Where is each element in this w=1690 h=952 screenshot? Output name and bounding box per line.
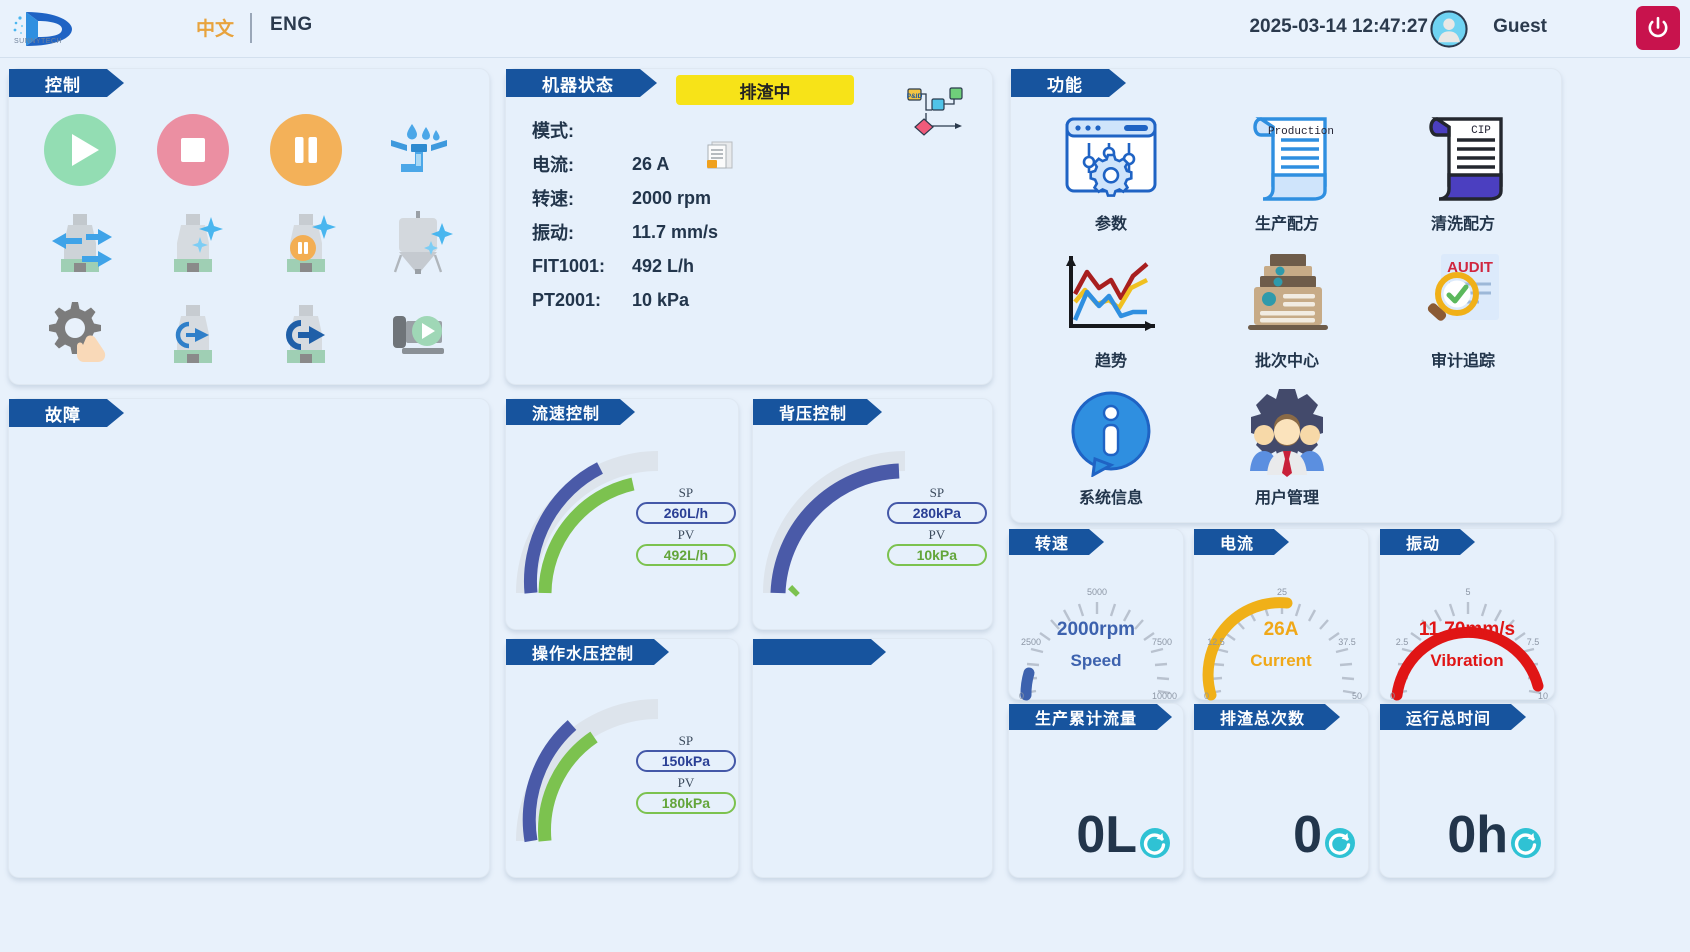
status-row-label: 模式:	[532, 117, 632, 143]
cip-clean-button[interactable]	[136, 196, 249, 287]
function-batch-center[interactable]: 批次中心	[1199, 242, 1375, 379]
water-spray-icon	[383, 114, 455, 186]
logo-wordmark: SUNNYTECH	[14, 38, 62, 45]
fault-panel-title: 故障	[9, 399, 107, 427]
status-row: 电流: 26 A	[532, 147, 718, 181]
pause-button[interactable]	[249, 105, 362, 196]
function-label: 生产配方	[1255, 210, 1319, 234]
status-row-value: 11.7 mm/s	[632, 222, 718, 243]
gauge-tick-label: 5000	[1087, 587, 1107, 597]
function-panel-title: 功能	[1011, 69, 1109, 97]
status-row: 振动: 11.7 mm/s	[532, 215, 718, 249]
function-parameters[interactable]: 参数	[1023, 105, 1199, 242]
speed-gauge-title: 转速	[1009, 529, 1089, 555]
control-button-grid	[23, 105, 475, 377]
speed-gauge-unit: Speed	[1009, 651, 1183, 671]
flow-control-arc: SP 260L/h PV 492L/h	[506, 433, 738, 608]
pv-value: 10kPa	[887, 544, 987, 566]
drain-button[interactable]	[249, 286, 362, 377]
status-row-label: FIT1001:	[532, 256, 632, 277]
sp-caption: SP	[887, 485, 987, 501]
separator-sparkle-icon	[155, 203, 231, 279]
machine-status-panel: 机器状态 排渣中 P&ID 模式: 电流: 26 A 转速: 2000 rpm …	[505, 68, 993, 385]
function-cip-recipe[interactable]: CIP 清洗配方	[1375, 105, 1551, 242]
speed-gauge-body: 2500 5000 7500 0 10000 2000rpm Speed	[1009, 553, 1183, 701]
gauge-max-label: 10000	[1152, 691, 1177, 701]
status-row-value: 492 L/h	[632, 256, 694, 277]
status-row-label: PT2001:	[532, 290, 632, 311]
waterpressure-control-panel: 操作水压控制 SP 150kPa PV 180kPa	[505, 638, 739, 878]
blank-control-panel	[752, 638, 993, 878]
function-user-management[interactable]: 用户管理	[1199, 378, 1375, 515]
waterpressure-control-arc: SP 150kPa PV 180kPa	[506, 681, 738, 856]
function-production-recipe[interactable]: Production 生产配方	[1199, 105, 1375, 242]
status-row: 模式:	[532, 113, 718, 147]
current-gauge-panel: 电流 12.5 25 37.5 0 50 26A Current	[1193, 528, 1369, 700]
gauge-tick-label: 5	[1465, 587, 1470, 597]
sp-caption: SP	[636, 485, 736, 501]
current-gauge-body: 12.5 25 37.5 0 50 26A Current	[1194, 553, 1368, 701]
water-flush-button[interactable]	[362, 105, 475, 196]
function-trend[interactable]: 趋势	[1023, 242, 1199, 379]
recipe-badge: Production	[1268, 126, 1334, 138]
counter-title: 排渣总次数	[1194, 704, 1325, 730]
company-logo	[8, 6, 128, 52]
power-button[interactable]	[1636, 6, 1680, 50]
lang-chinese[interactable]: 中文	[196, 14, 234, 41]
discharge-button[interactable]	[136, 286, 249, 377]
user-management-icon	[1237, 386, 1337, 478]
cip-recipe-icon: CIP	[1415, 112, 1511, 204]
pause-circle-icon	[269, 113, 343, 187]
svg-text:P&ID: P&ID	[907, 93, 923, 100]
status-row-label: 转速:	[532, 185, 632, 211]
stop-circle-icon	[156, 113, 230, 187]
waterpressure-control-title: 操作水压控制	[506, 639, 654, 665]
status-badge: 排渣中	[676, 75, 854, 105]
separator-discharge-icon	[155, 294, 231, 370]
status-row: 转速: 2000 rpm	[532, 181, 718, 215]
backpressure-control-arc: SP 280kPa PV 10kPa	[753, 433, 992, 608]
lang-english[interactable]: ENG	[270, 14, 313, 36]
backpressure-setpoint-readout: SP 280kPa PV 10kPa	[887, 485, 987, 569]
gear-hand-icon	[42, 294, 118, 370]
reset-icon[interactable]	[1324, 827, 1356, 859]
stop-button[interactable]	[136, 105, 249, 196]
counter-run-hours: 运行总时间 0h	[1379, 703, 1555, 878]
status-row-label: 振动:	[532, 219, 632, 245]
function-label: 清洗配方	[1431, 210, 1495, 234]
system-info-icon	[1065, 386, 1157, 478]
status-row-value: 10 kPa	[632, 290, 689, 311]
audit-trail-icon: AUDIT	[1413, 249, 1513, 341]
machine-status-title: 机器状态	[506, 69, 640, 97]
tank-clean-button[interactable]	[362, 196, 475, 287]
vibration-gauge-unit: Vibration	[1380, 651, 1554, 671]
control-panel: 控制	[8, 68, 490, 385]
function-label: 审计追踪	[1431, 347, 1495, 371]
sp-value[interactable]: 280kPa	[887, 502, 987, 524]
gauge-min-label: 0	[1204, 691, 1209, 701]
sp-value[interactable]: 260L/h	[636, 502, 736, 524]
function-system-info[interactable]: 系统信息	[1023, 378, 1199, 515]
pv-caption: PV	[636, 775, 736, 791]
batch-center-icon	[1238, 249, 1336, 341]
counter-title: 生产累计流量	[1009, 704, 1157, 730]
username-label: Guest	[1493, 16, 1547, 38]
separator-arrows-icon	[42, 203, 118, 279]
sp-caption: SP	[636, 733, 736, 749]
gauge-tick-label: 25	[1277, 587, 1287, 597]
power-icon	[1645, 15, 1671, 41]
fault-panel: 故障	[8, 398, 490, 878]
backpressure-control-title: 背压控制	[753, 399, 867, 425]
tank-sparkle-icon	[381, 203, 457, 279]
pv-caption: PV	[887, 527, 987, 543]
flow-control-title: 流速控制	[506, 399, 620, 425]
reset-icon[interactable]	[1139, 827, 1171, 859]
motor-run-button[interactable]	[362, 286, 475, 377]
production-recipe-icon: Production	[1239, 112, 1335, 204]
parameters-icon	[1061, 112, 1161, 204]
status-row: PT2001: 10 kPa	[532, 283, 718, 317]
document-icon[interactable]	[706, 141, 734, 171]
counter-value: 0L	[1076, 809, 1137, 861]
control-panel-title: 控制	[9, 69, 107, 97]
lang-divider	[250, 13, 252, 43]
current-gauge-value: 26A	[1194, 619, 1368, 641]
gauge-min-label: 0	[1390, 691, 1395, 701]
current-gauge-unit: Current	[1194, 651, 1368, 671]
fault-list[interactable]	[21, 435, 477, 865]
status-row-value: 2000 rpm	[632, 188, 711, 209]
counter-total-flow: 生产累计流量 0L	[1008, 703, 1184, 878]
pid-diagram-icon[interactable]: P&ID	[906, 85, 970, 145]
play-circle-icon	[43, 113, 117, 187]
gauge-max-label: 50	[1352, 691, 1362, 701]
counter-value: 0	[1293, 809, 1322, 861]
motor-play-icon	[381, 294, 457, 370]
counter-title: 运行总时间	[1380, 704, 1511, 730]
function-label: 系统信息	[1079, 484, 1143, 508]
vibration-gauge-body: 2.5 5 7.5 0 10 11.70mm/s Vibration	[1380, 553, 1554, 701]
manual-settings-button[interactable]	[23, 286, 136, 377]
function-label: 参数	[1095, 210, 1127, 234]
gauge-max-label: 10	[1538, 691, 1548, 701]
vibration-gauge-panel: 振动 2.5 5 7.5 0 10 11.70mm/s Vibration	[1379, 528, 1555, 700]
flow-control-panel: 流速控制 SP 260L/h PV 492L/h	[505, 398, 739, 630]
cip-pause-button[interactable]	[249, 196, 362, 287]
waterpressure-setpoint-readout: SP 150kPa PV 180kPa	[636, 733, 736, 817]
sp-value[interactable]: 150kPa	[636, 750, 736, 772]
counter-value: 0h	[1447, 809, 1508, 861]
function-grid: 参数 Production 生产配方	[1023, 105, 1551, 515]
pv-caption: PV	[636, 527, 736, 543]
start-button[interactable]	[23, 105, 136, 196]
speed-gauge-panel: 转速 2500 5000 7500 0 10000 2000rpm Speed	[1008, 528, 1184, 700]
status-row-label: 电流:	[532, 151, 632, 177]
blank-panel-title	[753, 639, 871, 665]
recipe-badge: CIP	[1471, 125, 1491, 137]
speed-gauge-value: 2000rpm	[1009, 619, 1183, 641]
status-row-value: 26 A	[632, 154, 669, 175]
separator-sparkle-pause-icon	[268, 203, 344, 279]
flow-setpoint-readout: SP 260L/h PV 492L/h	[636, 485, 736, 569]
function-label: 批次中心	[1255, 347, 1319, 371]
gauge-min-label: 0	[1019, 691, 1024, 701]
datetime-display: 2025-03-14 12:47:27	[1249, 16, 1428, 38]
counter-discharge-count: 排渣总次数 0	[1193, 703, 1369, 878]
function-audit-trail[interactable]: AUDIT 审计追踪	[1375, 242, 1551, 379]
function-panel: 功能	[1010, 68, 1562, 523]
trend-chart-icon	[1059, 249, 1163, 341]
status-row: FIT1001: 492 L/h	[532, 249, 718, 283]
reset-icon[interactable]	[1510, 827, 1542, 859]
top-header: SUNNYTECH 中文 ENG 2025-03-14 12:47:27 Gue…	[0, 0, 1690, 58]
separator-transfer-button[interactable]	[23, 196, 136, 287]
pv-value: 492L/h	[636, 544, 736, 566]
user-avatar-icon[interactable]	[1430, 10, 1468, 48]
current-gauge-title: 电流	[1194, 529, 1274, 555]
backpressure-control-panel: 背压控制 SP 280kPa PV 10kPa	[752, 398, 993, 630]
function-label: 用户管理	[1255, 484, 1319, 508]
machine-status-rows: 模式: 电流: 26 A 转速: 2000 rpm 振动: 11.7 mm/s …	[532, 113, 718, 317]
separator-drain-icon	[268, 294, 344, 370]
vibration-gauge-title: 振动	[1380, 529, 1460, 555]
function-label: 趋势	[1095, 347, 1127, 371]
vibration-gauge-value: 11.70mm/s	[1380, 619, 1554, 641]
pv-value: 180kPa	[636, 792, 736, 814]
